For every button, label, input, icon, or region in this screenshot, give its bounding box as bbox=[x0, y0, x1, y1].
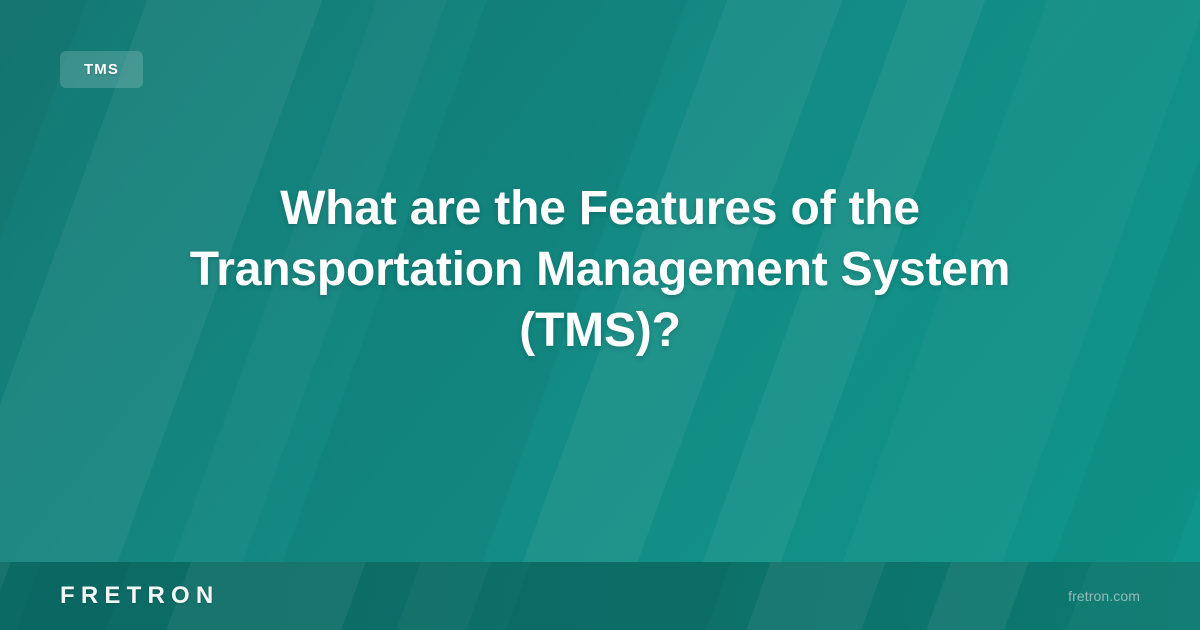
page-title-line-1: What are the Features of the bbox=[100, 178, 1100, 239]
brand-logo-wordmark: FRETRON bbox=[60, 584, 219, 608]
page-title-line-3: (TMS)? bbox=[100, 300, 1100, 361]
card-main-area: TMS What are the Features of the Transpo… bbox=[0, 0, 1200, 562]
footer-content: FRETRON fretron.com bbox=[0, 562, 1200, 630]
page-title-line-2: Transportation Management System bbox=[100, 239, 1100, 300]
social-share-card: TMS What are the Features of the Transpo… bbox=[0, 0, 1200, 630]
category-badge-label: TMS bbox=[84, 62, 119, 77]
website-url-label: fretron.com bbox=[1068, 589, 1140, 603]
category-badge: TMS bbox=[60, 51, 143, 88]
page-title: What are the Features of the Transportat… bbox=[100, 178, 1100, 361]
footer-bar: FRETRON fretron.com bbox=[0, 562, 1200, 630]
